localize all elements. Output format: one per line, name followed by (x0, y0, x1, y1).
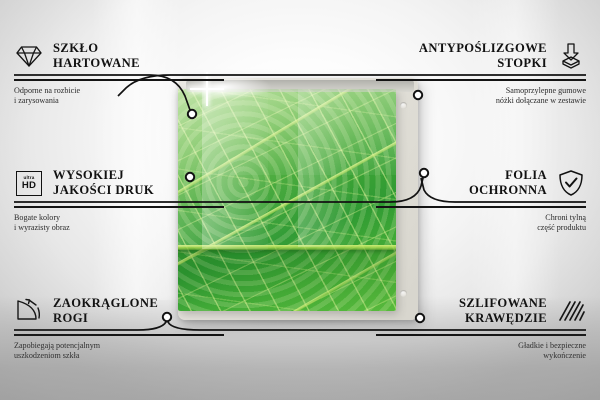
feature-divider (376, 79, 586, 81)
feature-desc-line1: Samoprzylepne gumowe (506, 86, 586, 95)
feature-polished-edges[interactable]: SZLIFOWANE KRAWĘDZIE Gładkie i bezpieczn… (376, 291, 586, 362)
feature-desc-line1: Chroni tylną (545, 213, 586, 222)
feature-desc-line1: Bogate kolory (14, 213, 60, 222)
arrow-down-pad-icon (556, 41, 586, 71)
hatch-lines-icon (556, 296, 586, 326)
feature-desc-line2: uszkodzeniom szkła (14, 351, 79, 360)
feature-divider (376, 206, 586, 208)
feature-anti-slip-feet[interactable]: ANTYPOŚLIZGOWE STOPKI Samoprzylepne gumo… (376, 36, 586, 107)
feature-desc-line2: nóżki dołączane w zestawie (496, 96, 586, 105)
feature-title-line1: ZAOKRĄGLONE (53, 296, 158, 310)
feature-desc-line2: część produktu (537, 223, 586, 232)
feature-divider (14, 206, 224, 208)
feature-title-line1: SZLIFOWANE (459, 296, 547, 310)
feature-tempered-glass[interactable]: SZKŁO HARTOWANE Odporne na rozbicie i za… (14, 36, 224, 107)
feature-protective-film[interactable]: FOLIA OCHRONNA Chroni tylną część produk… (376, 163, 586, 234)
feature-divider (14, 79, 224, 81)
feature-title-line2: ROGI (53, 311, 88, 325)
feature-title-line2: OCHRONNA (469, 183, 547, 197)
feature-desc-line1: Odporne na rozbicie (14, 86, 80, 95)
feature-desc-line1: Zapobiegają potencjalnym (14, 341, 100, 350)
shield-check-icon (556, 168, 586, 198)
infographic-canvas: SZKŁO HARTOWANE Odporne na rozbicie i za… (0, 0, 600, 400)
feature-high-quality-print[interactable]: ultra HD WYSOKIEJ JAKOŚCI DRUK Bogate ko… (14, 163, 224, 234)
feature-desc-line2: i wyrazisty obraz (14, 223, 70, 232)
ultra-hd-icon: ultra HD (14, 168, 44, 198)
feature-title-line1: FOLIA (505, 168, 547, 182)
feature-title-line2: HARTOWANE (53, 56, 140, 70)
feature-rounded-corners[interactable]: ZAOKRĄGLONE ROGI Zapobiegają potencjalny… (14, 291, 224, 362)
leaf-central-vein (178, 245, 396, 250)
feature-divider (14, 334, 224, 336)
rounded-corner-icon (14, 296, 44, 326)
diamond-icon (14, 41, 44, 71)
ultra-hd-icon-main-label: HD (22, 181, 36, 191)
feature-desc-line2: i zarysowania (14, 96, 59, 105)
feature-title-line2: KRAWĘDZIE (465, 311, 547, 325)
feature-divider (376, 334, 586, 336)
feature-desc-line2: wykończenie (543, 351, 586, 360)
feature-title-line2: STOPKI (497, 56, 547, 70)
feature-desc-line1: Gładkie i bezpieczne (518, 341, 586, 350)
feature-title-line1: SZKŁO (53, 41, 98, 55)
feature-title-line2: JAKOŚCI DRUK (53, 183, 154, 197)
feature-title-line1: ANTYPOŚLIZGOWE (419, 41, 547, 55)
feature-title-line1: WYSOKIEJ (53, 168, 124, 182)
